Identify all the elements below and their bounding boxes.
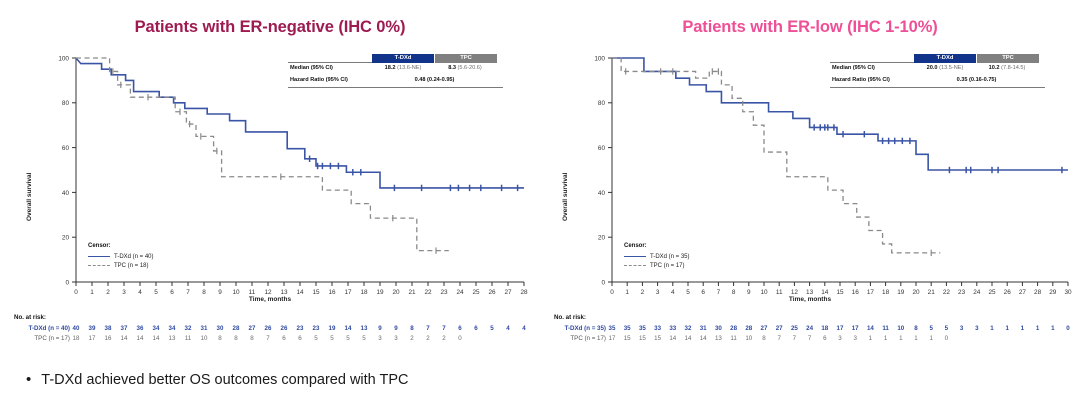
censor-legend-label-tpc: TPC (n = 18) [114,262,149,270]
risk-value: 5 [341,335,355,342]
risk-value: 6 [453,325,467,332]
risk-value: 26 [277,325,291,332]
risk-value: 35 [635,325,649,332]
median-tdxd-ci: (13.6-NE) [397,65,421,71]
x-tick-label: 2 [641,289,645,296]
summary-bottom-rule [288,87,503,88]
risk-value: 16 [101,335,115,342]
risk-value: 33 [651,325,665,332]
x-tick-label: 0 [74,289,78,296]
x-tick-label: 24 [973,289,981,296]
risk-value: 3 [833,335,847,342]
summary-label-hazard: Hazard Ratio (95% CI) [830,78,914,84]
risk-value: 23 [293,325,307,332]
risk-value: 10 [894,325,908,332]
risk-value: 7 [803,335,817,342]
summary-header-spacer [288,54,372,63]
summary-value-median-tdxd: 18.2 (13.6-NE) [372,66,434,72]
censor-legend-label-tdxd: T-DXd (n = 35) [650,253,690,261]
x-tick-label: 30 [1064,289,1072,296]
x-tick-label: 22 [424,289,432,296]
risk-value: 10 [742,335,756,342]
x-tick-label: 4 [138,289,142,296]
risk-value: 17 [85,335,99,342]
y-tick-label: 100 [58,55,69,62]
risk-value: 18 [69,335,83,342]
x-axis-label-er-negative: Time, months [0,296,540,303]
x-tick-label: 28 [520,289,528,296]
bullet-text: T-DXd achieved better OS outcomes compar… [41,372,408,389]
risk-value: 14 [863,325,877,332]
censor-legend-label-tpc: TPC (n = 17) [650,262,685,270]
risk-value: 3 [955,325,969,332]
risk-value: 19 [325,325,339,332]
risk-value: 11 [879,325,893,332]
x-tick-label: 9 [747,289,751,296]
risk-value: 9 [373,325,387,332]
x-tick-label: 11 [249,289,256,296]
risk-value: 8 [909,325,923,332]
summary-header-row: T-DXd TPC [830,54,1045,63]
risk-value: 28 [727,325,741,332]
x-tick-label: 23 [958,289,966,296]
x-tick-label: 14 [821,289,829,296]
risk-value: 27 [757,325,771,332]
x-tick-label: 8 [202,289,206,296]
x-tick-label: 27 [504,289,512,296]
risk-table-er-negative: No. at risk: T-DXd (n = 40)4039383736343… [0,314,540,350]
summary-header-row: T-DXd TPC [288,54,503,63]
x-tick-label: 18 [882,289,890,296]
summary-row-median: Median (95% CI) 20.0 (13.5-NE) 10.2 (7.8… [830,63,1045,75]
risk-value: 14 [133,335,147,342]
risk-value: 11 [727,335,741,342]
summary-header-tdxd: T-DXd [372,54,434,63]
x-tick-label: 27 [1019,289,1027,296]
median-tdxd-value: 20.0 [927,65,938,71]
x-tick-label: 1 [90,289,94,296]
x-tick-label: 12 [264,289,272,296]
censor-legend-er-negative: Censor: T-DXd (n = 40) TPC (n = 18) [88,242,154,270]
risk-value: 1 [1031,325,1045,332]
line-swatch-solid-icon [624,256,646,257]
risk-value: 1 [1046,325,1060,332]
risk-value: 17 [848,325,862,332]
x-tick-label: 5 [686,289,690,296]
y-tick-label: 40 [62,190,70,197]
risk-value: 4 [501,325,515,332]
risk-value: 5 [939,325,953,332]
censor-legend-entry-tpc: TPC (n = 18) [88,261,154,270]
x-axis-label-er-low: Time, months [540,296,1080,303]
risk-value: 2 [405,335,419,342]
risk-value: 34 [165,325,179,332]
x-tick-label: 19 [376,289,384,296]
risk-value: 8 [213,335,227,342]
x-tick-label: 20 [912,289,920,296]
risk-value: 2 [421,335,435,342]
x-tick-label: 12 [791,289,799,296]
risk-value: 30 [213,325,227,332]
x-tick-label: 19 [897,289,905,296]
x-tick-label: 25 [988,289,996,296]
risk-value: 32 [181,325,195,332]
x-tick-label: 4 [671,289,675,296]
risk-value: 40 [69,325,83,332]
risk-value: 1 [894,335,908,342]
risk-value: 27 [245,325,259,332]
risk-value: 7 [437,325,451,332]
x-tick-label: 6 [170,289,174,296]
risk-row-label: TPC (n = 17) [540,335,606,342]
risk-value: 4 [517,325,531,332]
x-tick-label: 14 [296,289,304,296]
risk-value: 5 [325,335,339,342]
y-tick-label: 60 [62,145,70,152]
risk-value: 6 [818,335,832,342]
plot-area-er-negative: 020406080100 012345678910111213141516171… [0,46,540,304]
risk-value: 14 [341,325,355,332]
summary-bullet: • T-DXd achieved better OS outcomes comp… [26,372,409,389]
risk-value: 8 [245,335,259,342]
summary-value-hazard: 0.48 (0.24-0.95) [372,78,497,84]
risk-value: 23 [309,325,323,332]
x-tick-label: 24 [456,289,464,296]
risk-row-label: T-DXd (n = 40) [0,325,70,332]
summary-label-hazard: Hazard Ratio (95% CI) [288,78,372,84]
x-tick-label: 29 [1049,289,1057,296]
risk-value: 14 [666,335,680,342]
risk-value: 3 [848,335,862,342]
summary-row-median: Median (95% CI) 18.2 (13.6-NE) 8.3 (5.6-… [288,63,503,75]
risk-value: 10 [197,335,211,342]
x-tick-label: 6 [701,289,705,296]
y-tick-label: 0 [601,279,605,286]
bullet-marker-icon: • [26,372,31,389]
censor-legend-title: Censor: [624,242,690,250]
x-tick-label: 10 [232,289,240,296]
chart-title-er-low: Patients with ER-low (IHC 1-10%) [540,18,1080,37]
risk-value: 32 [681,325,695,332]
censor-legend-entry-tdxd: T-DXd (n = 40) [88,252,154,261]
x-tick-label: 22 [943,289,951,296]
x-tick-label: 25 [472,289,480,296]
risk-value: 13 [165,335,179,342]
risk-value: 15 [620,335,634,342]
y-tick-label: 40 [598,190,606,197]
x-tick-label: 21 [408,289,416,296]
risk-value: 3 [970,325,984,332]
x-tick-label: 1 [625,289,629,296]
x-tick-label: 17 [344,289,352,296]
summary-table-er-low: T-DXd TPC Median (95% CI) 20.0 (13.5-NE)… [830,54,1045,88]
x-tick-label: 20 [392,289,400,296]
panel-er-low: Patients with ER-low (IHC 1-10%) 0204060… [540,0,1080,365]
summary-label-median: Median (95% CI) [830,66,914,72]
risk-value: 27 [772,325,786,332]
risk-value: 11 [181,335,195,342]
x-tick-label: 23 [440,289,448,296]
x-tick-label: 7 [717,289,721,296]
x-tick-label: 0 [610,289,614,296]
risk-value: 26 [261,325,275,332]
median-tpc-value: 10.2 [989,65,1000,71]
x-tick-label: 15 [836,289,844,296]
risk-value: 6 [277,335,291,342]
risk-value: 7 [261,335,275,342]
risk-value: 2 [437,335,451,342]
risk-value: 31 [696,325,710,332]
y-axis-label-er-low: Overall survival [562,173,569,221]
x-tick-label: 15 [312,289,320,296]
risk-value: 17 [833,325,847,332]
risk-value: 18 [818,325,832,332]
summary-header-tdxd: T-DXd [914,54,976,63]
risk-value: 28 [229,325,243,332]
x-tick-label: 28 [1034,289,1042,296]
risk-value: 8 [757,335,771,342]
summary-bottom-rule [830,87,1045,88]
risk-value: 8 [405,325,419,332]
median-tpc-ci: (7.8-14.5) [1001,65,1025,71]
risk-value: 31 [197,325,211,332]
risk-value: 36 [133,325,147,332]
summary-value-median-tdxd: 20.0 (13.5-NE) [914,66,976,72]
line-swatch-dashed-icon [624,265,646,266]
summary-value-hazard: 0.35 (0.16-0.75) [914,78,1039,84]
median-tpc-value: 8.3 [448,65,456,71]
risk-table-er-low: No. at risk: T-DXd (n = 35)3535353333323… [540,314,1080,350]
x-tick-label: 2 [106,289,110,296]
median-tdxd-value: 18.2 [385,65,396,71]
x-tick-label: 11 [776,289,783,296]
censor-legend-er-low: Censor: T-DXd (n = 35) TPC (n = 17) [624,242,690,270]
censor-legend-label-tdxd: T-DXd (n = 40) [114,253,154,261]
median-tdxd-ci: (13.5-NE) [939,65,963,71]
median-tpc-ci: (5.6-20.6) [458,65,482,71]
risk-row-label: TPC (n = 17) [0,335,70,342]
risk-value: 3 [389,335,403,342]
risk-value: 1 [985,325,999,332]
risk-value: 34 [149,325,163,332]
summary-table-er-negative: T-DXd TPC Median (95% CI) 18.2 (13.6-NE)… [288,54,503,88]
risk-value: 1 [879,335,893,342]
y-tick-label: 80 [62,100,70,107]
summary-value-median-tpc: 8.3 (5.6-20.6) [434,66,496,72]
x-tick-label: 13 [806,289,814,296]
x-tick-label: 13 [280,289,288,296]
risk-value: 9 [389,325,403,332]
risk-value: 14 [149,335,163,342]
x-tick-label: 3 [122,289,126,296]
risk-value: 28 [742,325,756,332]
slide-root: Patients with ER-negative (IHC 0%) 02040… [0,0,1080,409]
summary-header-tpc: TPC [435,54,497,63]
censor-legend-entry-tdxd: T-DXd (n = 35) [624,252,690,261]
risk-value: 25 [787,325,801,332]
risk-value: 37 [117,325,131,332]
risk-value: 1 [1000,325,1014,332]
risk-value: 7 [421,325,435,332]
risk-value: 35 [605,325,619,332]
y-tick-label: 100 [594,55,605,62]
risk-value: 17 [605,335,619,342]
risk-value: 6 [469,325,483,332]
x-tick-label: 9 [218,289,222,296]
summary-header-tpc: TPC [977,54,1039,63]
x-tick-label: 8 [732,289,736,296]
line-swatch-solid-icon [88,256,110,257]
chart-title-er-negative: Patients with ER-negative (IHC 0%) [0,18,540,37]
risk-value: 1 [924,335,938,342]
summary-header-spacer [830,54,914,63]
risk-value: 14 [696,335,710,342]
y-tick-label: 80 [598,100,606,107]
x-tick-label: 7 [186,289,190,296]
x-tick-label: 21 [928,289,936,296]
y-tick-label: 20 [598,235,606,242]
risk-value: 7 [787,335,801,342]
risk-value: 0 [1061,325,1075,332]
risk-value: 5 [924,325,938,332]
x-tick-label: 26 [488,289,496,296]
x-tick-label: 10 [760,289,768,296]
y-tick-label: 60 [598,145,606,152]
risk-value: 14 [117,335,131,342]
risk-value: 39 [85,325,99,332]
risk-value: 24 [803,325,817,332]
x-tick-label: 26 [1004,289,1012,296]
summary-row-hazard: Hazard Ratio (95% CI) 0.35 (0.16-0.75) [830,75,1045,87]
risk-row-label: T-DXd (n = 35) [540,325,606,332]
risk-value: 3 [373,335,387,342]
risk-value: 30 [711,325,725,332]
risk-value: 1 [909,335,923,342]
y-tick-label: 0 [65,279,69,286]
censor-legend-title: Censor: [88,242,154,250]
risk-value: 33 [666,325,680,332]
risk-value: 14 [681,335,695,342]
x-tick-label: 5 [154,289,158,296]
risk-value: 0 [453,335,467,342]
risk-value: 38 [101,325,115,332]
x-tick-label: 3 [656,289,660,296]
risk-value: 5 [309,335,323,342]
risk-value: 1 [863,335,877,342]
risk-value: 15 [651,335,665,342]
x-tick-label: 16 [328,289,336,296]
x-tick-label: 17 [867,289,875,296]
censor-legend-entry-tpc: TPC (n = 17) [624,261,690,270]
summary-label-median: Median (95% CI) [288,66,372,72]
y-tick-label: 20 [62,235,70,242]
summary-value-median-tpc: 10.2 (7.8-14.5) [976,66,1038,72]
panel-er-negative: Patients with ER-negative (IHC 0%) 02040… [0,0,540,365]
risk-value: 5 [357,335,371,342]
risk-value: 1 [1015,325,1029,332]
risk-value: 8 [229,335,243,342]
line-swatch-dashed-icon [88,265,110,266]
y-axis-label-er-negative: Overall survival [26,173,33,221]
x-tick-label: 18 [360,289,368,296]
risk-value: 15 [635,335,649,342]
summary-row-hazard: Hazard Ratio (95% CI) 0.48 (0.24-0.95) [288,75,503,87]
plot-area-er-low: 020406080100 012345678910111213141516171… [540,46,1080,304]
risk-value: 0 [939,335,953,342]
risk-value: 35 [620,325,634,332]
risk-value: 5 [485,325,499,332]
risk-value: 13 [357,325,371,332]
x-tick-label: 16 [852,289,860,296]
risk-value: 13 [711,335,725,342]
risk-value: 7 [772,335,786,342]
risk-value: 6 [293,335,307,342]
